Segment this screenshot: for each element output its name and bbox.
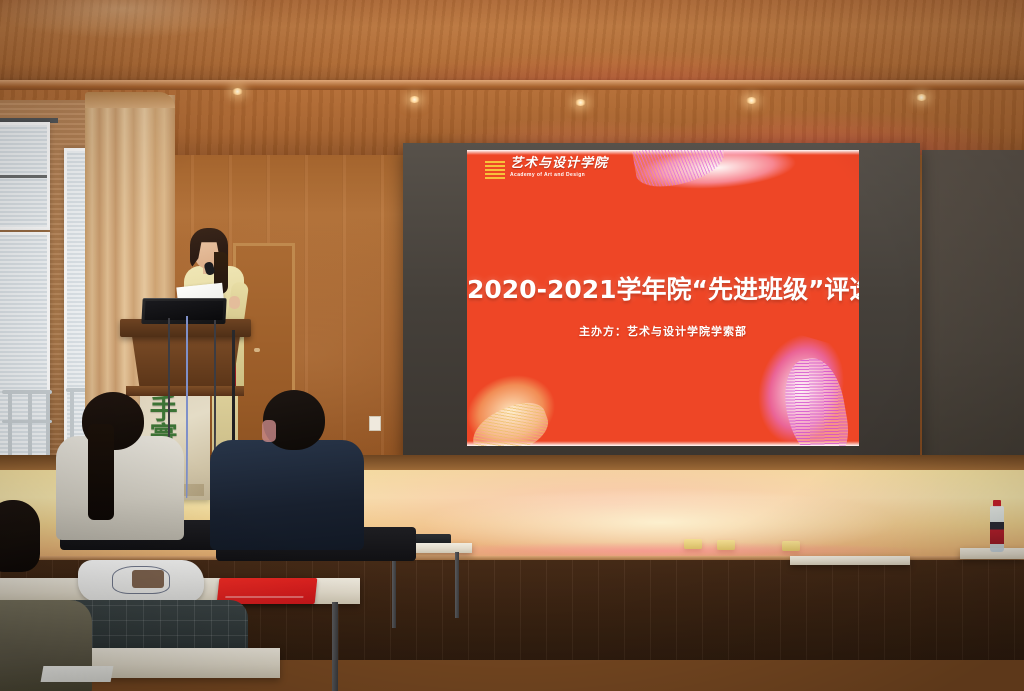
curtain-rod xyxy=(85,92,175,108)
downlight-icon xyxy=(746,97,757,104)
white-printed-jacket xyxy=(78,560,204,602)
slide-subtitle: 主办方：艺术与设计学院学索部 xyxy=(467,323,859,339)
desk-right-back xyxy=(790,556,910,565)
downlight-icon xyxy=(575,99,586,106)
desk-leg xyxy=(455,552,459,618)
logo-english-name: Academy of Art and Design xyxy=(510,173,608,178)
person-head xyxy=(0,500,40,572)
cable-blue xyxy=(186,316,188,498)
door-handle[interactable] xyxy=(254,348,260,352)
jacket-dark-patch xyxy=(132,570,164,588)
laptop-screen xyxy=(145,301,224,320)
stage-object xyxy=(684,539,702,549)
desk-leg xyxy=(392,552,396,628)
paper-on-desk xyxy=(41,666,114,682)
projection-screen[interactable]: 艺术与设计学院 Academy of Art and Design 2020-2… xyxy=(467,150,859,446)
desk-leg xyxy=(332,602,338,691)
ceiling-upper xyxy=(0,0,1024,88)
bottle-label xyxy=(990,522,1004,544)
water-bottle xyxy=(990,500,1004,552)
downlight-icon xyxy=(409,96,420,103)
person-torso xyxy=(210,440,364,550)
wall-plate xyxy=(369,416,381,431)
slide-logo: 艺术与设计学院 Academy of Art and Design xyxy=(485,157,608,179)
acoustic-panel-right xyxy=(922,150,1024,480)
logo-chinese-name: 艺术与设计学院 xyxy=(510,157,608,170)
stage-object xyxy=(782,541,800,551)
person-hair-strand xyxy=(88,424,114,520)
person-torso xyxy=(56,436,184,540)
window-mullion xyxy=(0,175,47,178)
stage-object xyxy=(717,540,735,550)
logo-mark-icon xyxy=(485,159,505,179)
downlight-icon xyxy=(232,88,243,95)
podium-shelf xyxy=(126,386,244,396)
downlight-icon xyxy=(916,94,927,101)
slide-title: 2020-2021学年院“先进班级”评选 xyxy=(467,270,859,306)
window-left-upper xyxy=(0,122,50,230)
lecture-hall-photo: 艺术与设计学院 Academy of Art and Design 2020-2… xyxy=(0,0,1024,691)
presenter-hand xyxy=(229,296,240,309)
face-mask-icon xyxy=(262,420,276,442)
